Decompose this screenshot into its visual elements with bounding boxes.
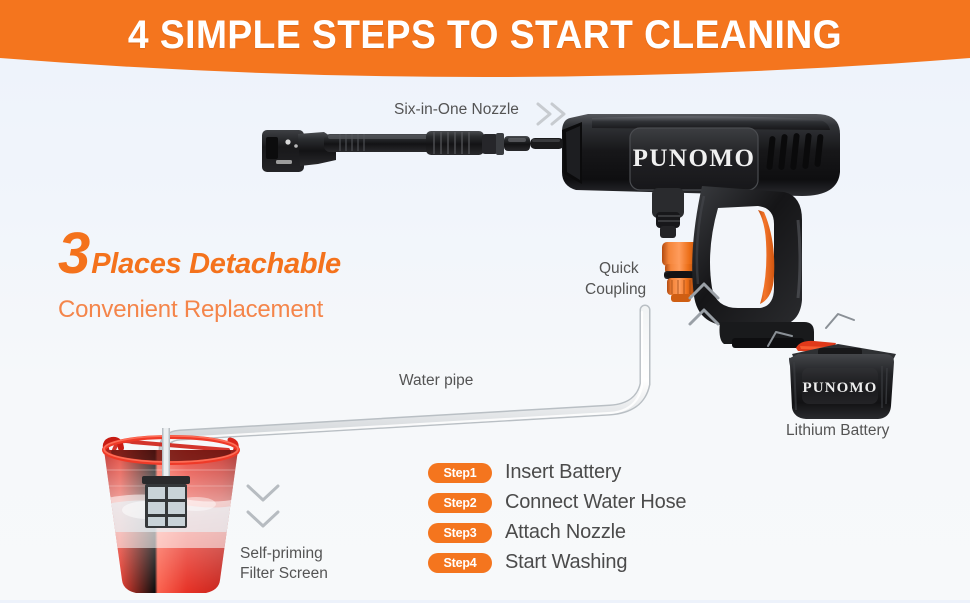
step-row-4: Step4 Start Washing <box>428 548 686 577</box>
callout-water-pipe: Water pipe <box>399 371 473 391</box>
filter-screen-icon <box>142 428 190 528</box>
callout-nozzle: Six-in-One Nozzle <box>394 100 519 120</box>
quick-coupling-graphic <box>650 240 714 308</box>
gun-brand-text: PUNOMO <box>633 145 756 172</box>
steps-list: Step1 Insert Battery Step2 Connect Water… <box>428 458 686 578</box>
step-label-1: Insert Battery <box>505 461 621 484</box>
page-title: 4 SIMPLE STEPS TO START CLEANING <box>34 0 936 70</box>
callout-filter-line1: Self-priming <box>240 543 323 564</box>
step-badge-1: Step1 <box>428 463 492 483</box>
headline-emphasis: Places Detachable <box>91 238 341 290</box>
step-label-2: Connect Water Hose <box>505 491 686 514</box>
callout-coupling-line2: Coupling <box>585 279 646 300</box>
step-badge-3: Step3 <box>428 523 492 543</box>
headline-block: 3 Places Detachable Convenient Replaceme… <box>58 228 341 324</box>
nozzle-wand-graphic <box>258 120 588 200</box>
callout-coupling-line1: Quick <box>599 258 639 279</box>
step-badge-2: Step2 <box>428 493 492 513</box>
step-label-4: Start Washing <box>505 551 627 574</box>
battery-detach-chevron-icon <box>762 306 872 352</box>
lithium-battery-graphic: PUNOMO <box>778 336 908 426</box>
step-label-3: Attach Nozzle <box>505 521 626 544</box>
step-row-1: Step1 Insert Battery <box>428 458 686 487</box>
callout-filter-line2: Filter Screen <box>240 563 328 584</box>
step-badge-4: Step4 <box>428 553 492 573</box>
header-banner: 4 SIMPLE STEPS TO START CLEANING <box>0 0 970 92</box>
pressure-washer-gun-graphic: PUNOMO <box>552 100 852 350</box>
chevron-up-icon <box>682 276 726 332</box>
step-row-2: Step2 Connect Water Hose <box>428 488 686 517</box>
battery-brand-text: PUNOMO <box>803 380 878 396</box>
infographic-canvas: 4 SIMPLE STEPS TO START CLEANING <box>0 0 970 600</box>
chevron-right-icon <box>530 98 570 130</box>
headline-subtitle: Convenient Replacement <box>58 296 341 324</box>
step-row-3: Step3 Attach Nozzle <box>428 518 686 547</box>
chevron-down-icon <box>240 478 286 538</box>
callout-battery: Lithium Battery <box>786 421 889 441</box>
headline-number: 3 <box>58 228 89 280</box>
